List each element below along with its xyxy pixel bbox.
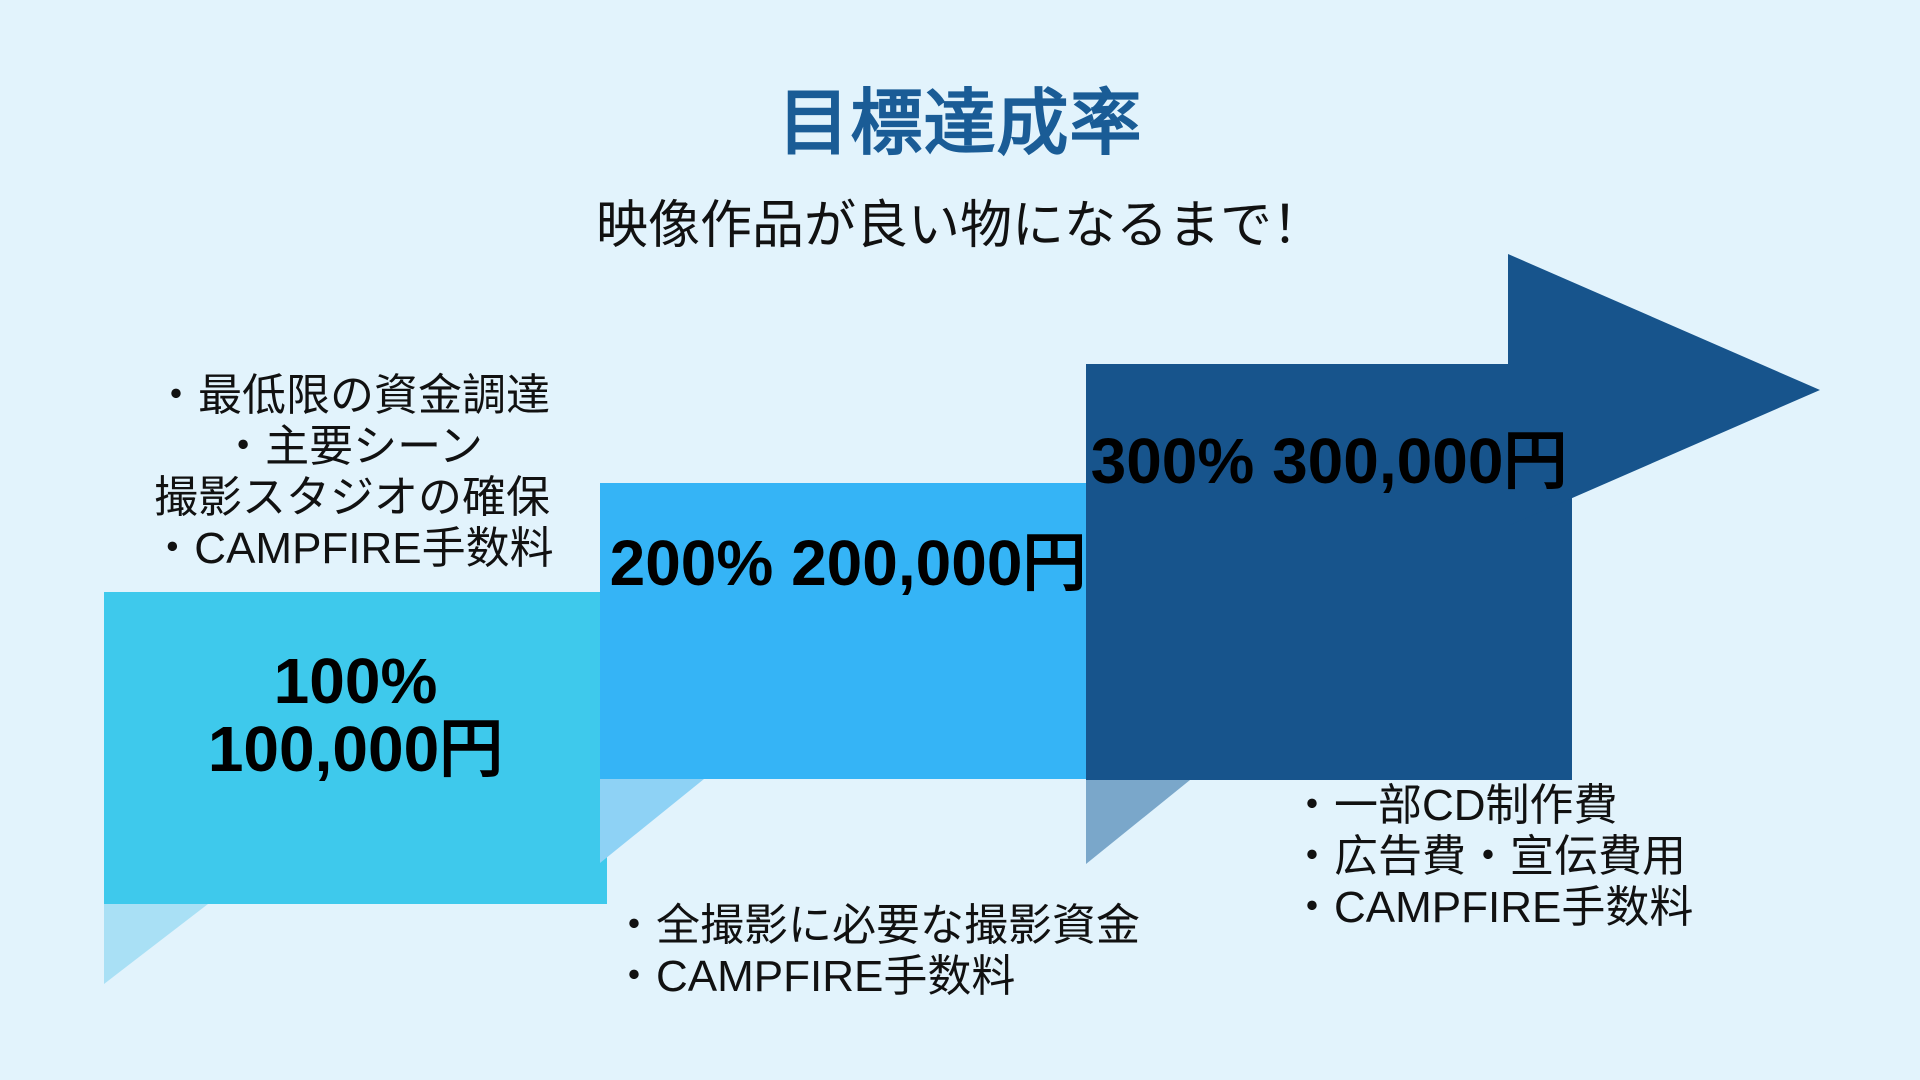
- step-2-note-line: ・CAMPFIRE手数料: [612, 951, 1252, 1002]
- step-1-amount: 100,000円: [104, 716, 607, 784]
- step-1-note-line: ・CAMPFIRE手数料: [92, 523, 612, 574]
- page-title: 目標達成率: [0, 88, 1920, 160]
- step-1-tail-triangle: [104, 904, 208, 984]
- step-3-note-line: ・一部CD制作費: [1290, 780, 1810, 831]
- page-subtitle: 映像作品が良い物になるまで！: [0, 200, 1920, 252]
- step-3-tail-triangle: [1086, 780, 1190, 864]
- step-3-note-line: ・広告費・宣伝費用: [1290, 831, 1810, 882]
- step-1-note-line: ・最低限の資金調達: [92, 370, 612, 421]
- step-2-percent: 200%: [610, 527, 774, 599]
- step-1-notes: ・最低限の資金調達 ・主要シーン 撮影スタジオの確保 ・CAMPFIRE手数料: [92, 370, 612, 574]
- step-3-amount: 300,000円: [1272, 425, 1567, 497]
- infographic-canvas: 目標達成率 映像作品が良い物になるまで！ ・最低限の資金調達 ・主要シーン 撮影…: [0, 0, 1920, 1080]
- step-3-note-line: ・CAMPFIRE手数料: [1290, 882, 1810, 933]
- step-2-note-line: ・全撮影に必要な撮影資金: [612, 900, 1252, 951]
- step-1-note-line: 撮影スタジオの確保: [92, 472, 612, 523]
- step-2-amount: 200,000円: [791, 527, 1086, 599]
- step-1-label: 100% 100,000円: [104, 648, 607, 784]
- step-1-percent: 100%: [274, 645, 438, 717]
- step-3-percent: 300%: [1091, 425, 1255, 497]
- step-2-notes: ・全撮影に必要な撮影資金 ・CAMPFIRE手数料: [612, 900, 1252, 1002]
- step-2-tail-triangle: [600, 779, 704, 863]
- step-1-note-line: ・主要シーン: [92, 421, 612, 472]
- step-3-notes: ・一部CD制作費 ・広告費・宣伝費用 ・CAMPFIRE手数料: [1290, 780, 1810, 933]
- step-2-label: 200% 200,000円: [600, 530, 1096, 598]
- step-3-label: 300% 300,000円: [1086, 428, 1572, 496]
